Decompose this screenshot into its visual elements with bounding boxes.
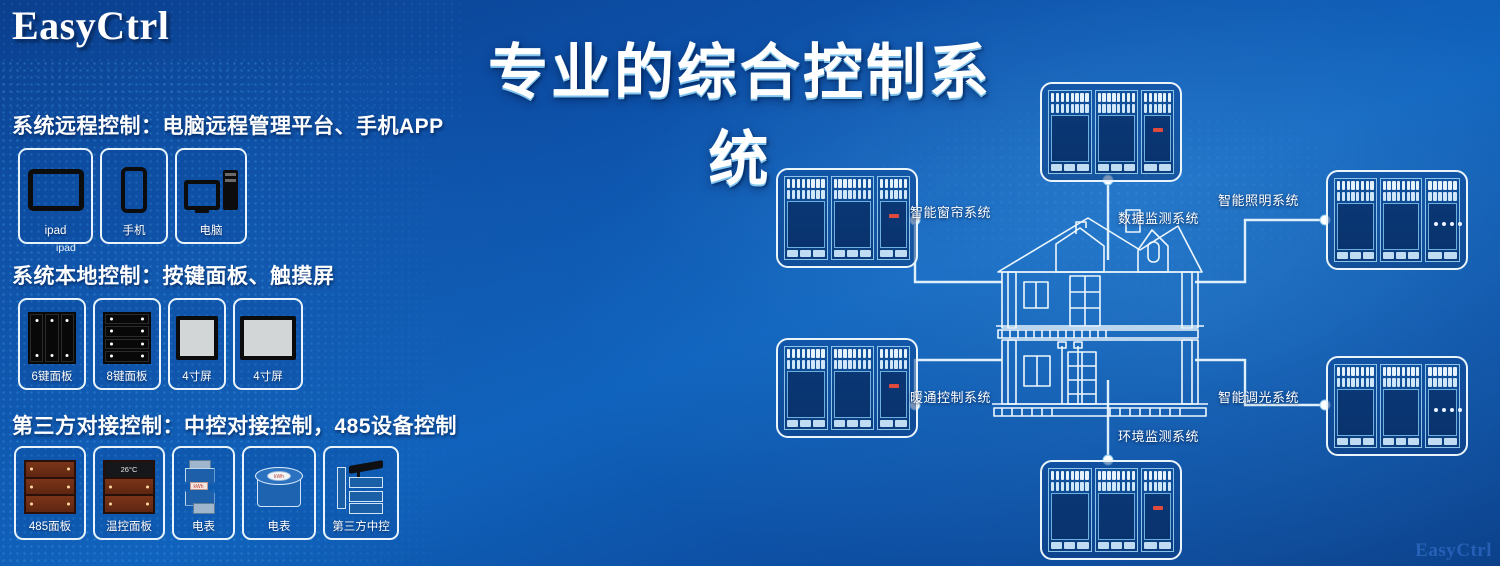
device-card-8key-panel[interactable]: 8键面板 [93,298,161,390]
device-card-thermostat-panel[interactable]: 26°C 温控面板 [93,446,165,540]
card-row-third-party: 485面板 26°C 温控面板 kWh 电表 [14,446,399,540]
thermostat-display: 26°C [105,462,153,477]
device-card-4inch-screen-b[interactable]: 4寸屏 [233,298,303,390]
eight-key-panel-icon [99,307,155,368]
card-row-remote: ipad 手机 电脑 [18,148,247,244]
device-card-label: 温控面板 [106,518,152,534]
brand-logo: EasyCtrl [12,2,169,49]
villa-house-illustration [992,210,1208,416]
device-card-label: 电脑 [200,222,223,238]
module-data-monitor[interactable] [1040,82,1182,182]
card-row-local: 6键面板 8键面板 4寸屏 4寸屏 [18,298,303,390]
module-curtain-controller[interactable] [776,168,918,268]
third-party-controller-icon [329,455,393,518]
meter-badge: kWh [267,471,291,481]
module-environment-monitor[interactable] [1040,460,1182,560]
device-card-ipad[interactable]: ipad [18,148,93,244]
device-card-label: 485面板 [29,518,71,534]
device-card-6key-panel[interactable]: 6键面板 [18,298,86,390]
device-card-phone[interactable]: 手机 [100,148,168,244]
label-hvac-system: 暖通控制系统 [910,387,991,406]
ipad-subnote: ipad [56,242,76,254]
label-environment-system: 环境监测系统 [1118,426,1199,445]
section-heading-remote-control: 系统远程控制：电脑远程管理平台、手机APP [12,110,444,140]
meter-badge: kWh [190,482,208,490]
round-meter-icon: kWh [248,455,310,518]
six-key-panel-icon [24,307,80,368]
device-card-label: ipad [45,222,67,238]
smartphone-icon [106,157,162,222]
four-inch-screen-wide-icon [239,307,297,368]
device-card-third-party-controller[interactable]: 第三方中控 [323,446,399,540]
device-card-pc[interactable]: 电脑 [175,148,247,244]
device-card-label: 电表 [268,518,291,534]
tablet-icon [24,157,87,222]
module-lighting-controller[interactable] [1326,170,1468,270]
device-card-485-panel[interactable]: 485面板 [14,446,86,540]
four-inch-screen-icon [174,307,220,368]
system-topology-diagram: 智能窗帘系统 数据监测系统 智能照明系统 暖通控制系统 环境监测系统 智能调光系… [740,60,1500,566]
device-card-label: 8键面板 [107,368,148,384]
device-card-meter-a[interactable]: kWh 电表 [172,446,235,540]
device-card-label: 4寸屏 [182,368,211,384]
device-card-label: 第三方中控 [332,518,390,534]
device-card-label: 4寸屏 [253,368,282,384]
device-card-label: 6键面板 [32,368,73,384]
device-card-label: 电表 [192,518,215,534]
desktop-computer-icon [181,157,241,222]
label-curtain-system: 智能窗帘系统 [910,202,991,221]
label-dimming-system: 智能调光系统 [1218,387,1299,406]
brand-watermark: EasyCtrl [1415,540,1492,562]
device-card-4inch-screen-a[interactable]: 4寸屏 [168,298,226,390]
module-dimming-controller[interactable] [1326,356,1468,456]
device-card-label: 手机 [123,222,146,238]
energy-meter-icon: kWh [178,455,229,518]
device-card-meter-b[interactable]: kWh 电表 [242,446,316,540]
rs485-panel-icon [20,455,80,518]
module-hvac-controller[interactable] [776,338,918,438]
section-heading-local-control: 系统本地控制：按键面板、触摸屏 [12,260,335,290]
label-lighting-system: 智能照明系统 [1218,190,1299,209]
section-heading-third-party: 第三方对接控制：中控对接控制，485设备控制 [12,410,457,440]
thermostat-panel-icon: 26°C [99,455,159,518]
label-data-monitor-system: 数据监测系统 [1118,208,1199,227]
poster-canvas: EasyCtrl 专业的综合控制系统 系统远程控制：电脑远程管理平台、手机APP… [0,0,1500,566]
